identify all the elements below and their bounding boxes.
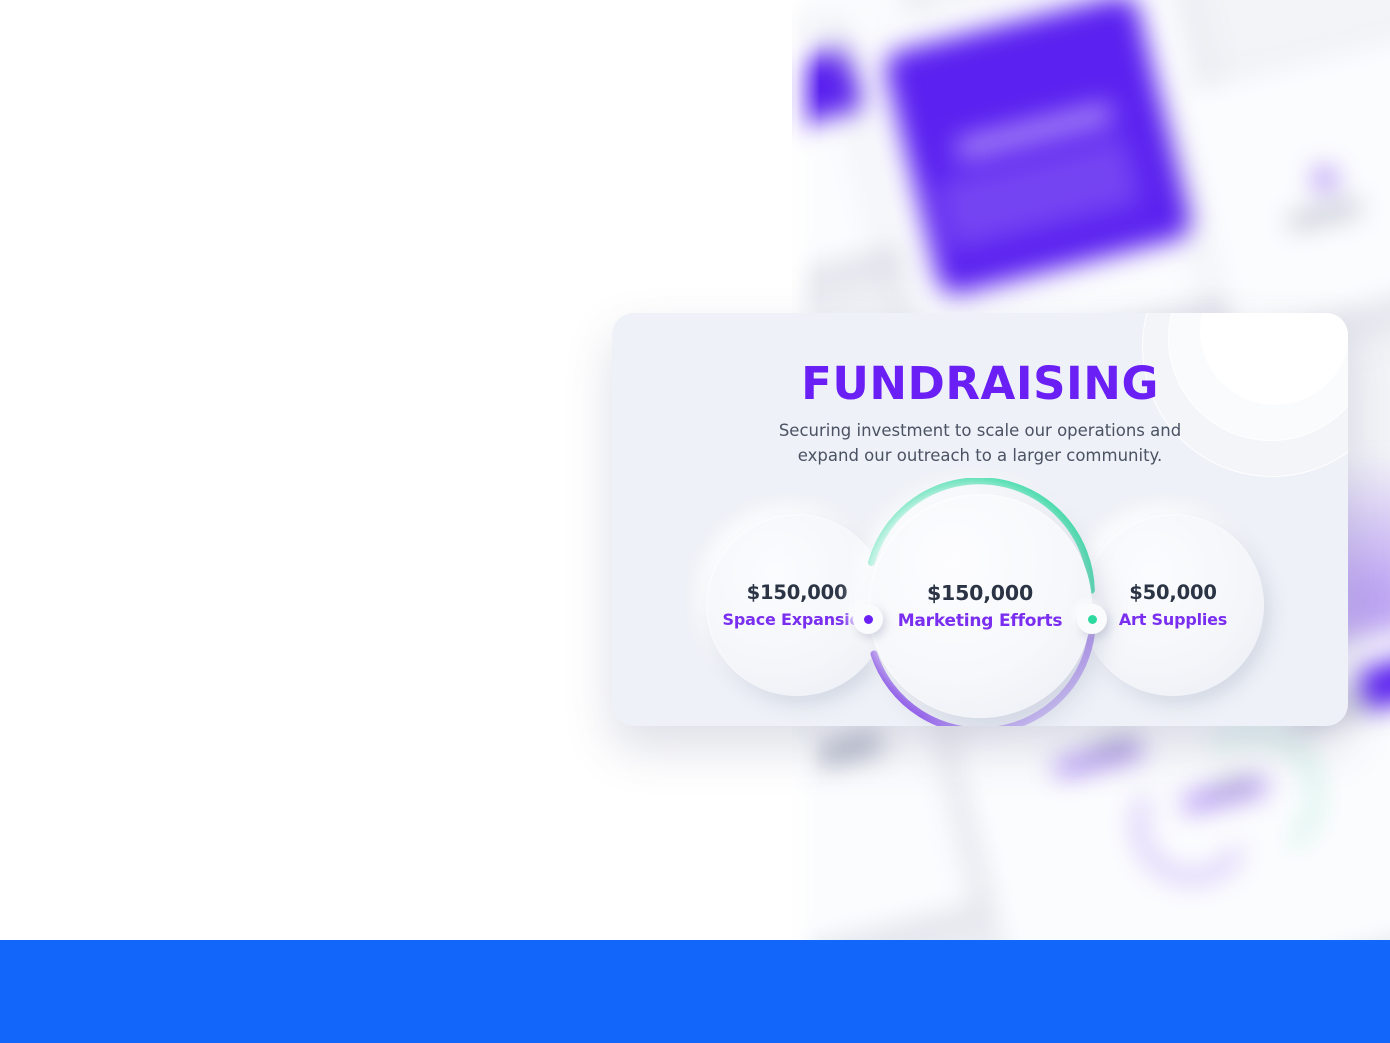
card-title: FUNDRAISING: [612, 357, 1348, 410]
connector-dot-left-core: [864, 615, 873, 624]
connector-dot-left: [853, 604, 883, 634]
funding-circle-art-supplies[interactable]: $50,000 Art Supplies: [1082, 514, 1264, 696]
funding-amount: $150,000: [927, 581, 1033, 605]
fundraising-card: FUNDRAISING Securing investment to scale…: [612, 313, 1348, 726]
funding-amount: $150,000: [747, 581, 848, 604]
funding-label: Art Supplies: [1119, 610, 1227, 629]
card-subtitle-line-2: expand our outreach to a larger communit…: [612, 443, 1348, 468]
bg-dot-purple-1: [1314, 168, 1336, 190]
bottom-accent-bar: [0, 940, 1390, 1043]
funding-label: Marketing Efforts: [898, 611, 1063, 631]
connector-dot-right-core: [1088, 615, 1097, 624]
funding-amount: $50,000: [1129, 581, 1216, 604]
slide-page: Business Idea Kit Fundraising Specify th…: [0, 0, 1390, 1043]
funding-circles-cluster: $150,000 Space Expansion: [612, 494, 1348, 726]
connector-dot-right: [1077, 604, 1107, 634]
funding-label: Space Expansion: [723, 610, 872, 629]
card-subtitle-line-1: Securing investment to scale our operati…: [612, 418, 1348, 443]
funding-circle-marketing-efforts[interactable]: $150,000 Marketing Efforts: [868, 494, 1092, 718]
card-subtitle: Securing investment to scale our operati…: [612, 418, 1348, 468]
